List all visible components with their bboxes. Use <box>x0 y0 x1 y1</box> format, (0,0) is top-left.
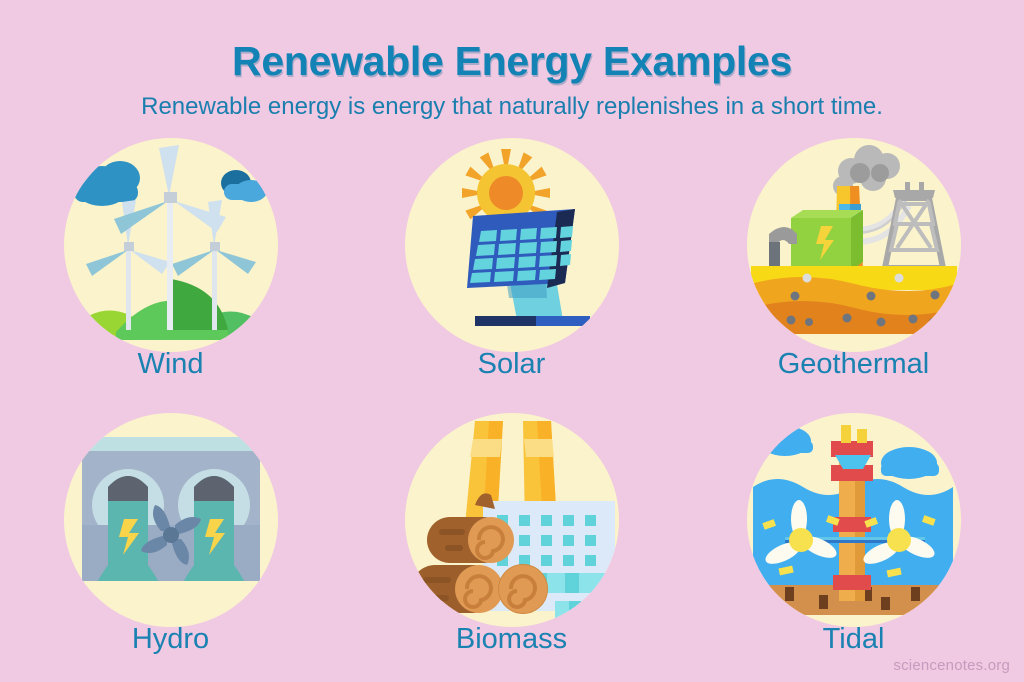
wind-turbines-icon <box>64 138 278 352</box>
biomass-plant-icon <box>405 413 619 627</box>
energy-card-geothermal[interactable]: Geothermal <box>683 130 1024 400</box>
energy-label-wind: Wind <box>0 348 341 381</box>
infographic-page: Renewable Energy Examples Renewable ener… <box>0 0 1024 682</box>
solar-panel-icon <box>405 138 619 352</box>
energy-label-solar: Solar <box>341 348 682 381</box>
energy-label-biomass: Biomass <box>341 623 682 656</box>
source-watermark: sciencenotes.org <box>893 657 1010 674</box>
page-title: Renewable Energy Examples <box>0 38 1024 85</box>
energy-card-solar[interactable]: Solar <box>341 130 682 400</box>
geothermal-plant-icon <box>747 138 961 352</box>
energy-card-biomass[interactable]: Biomass <box>341 405 682 675</box>
energy-label-geothermal: Geothermal <box>683 348 1024 381</box>
energy-label-hydro: Hydro <box>0 623 341 656</box>
hydro-dam-icon <box>64 413 278 627</box>
energy-card-tidal[interactable]: Tidal <box>683 405 1024 675</box>
tidal-turbine-icon <box>747 413 961 627</box>
energy-card-wind[interactable]: Wind <box>0 130 341 400</box>
page-subtitle: Renewable energy is energy that naturall… <box>0 93 1024 121</box>
energy-card-hydro[interactable]: Hydro <box>0 405 341 675</box>
energy-label-tidal: Tidal <box>683 623 1024 656</box>
